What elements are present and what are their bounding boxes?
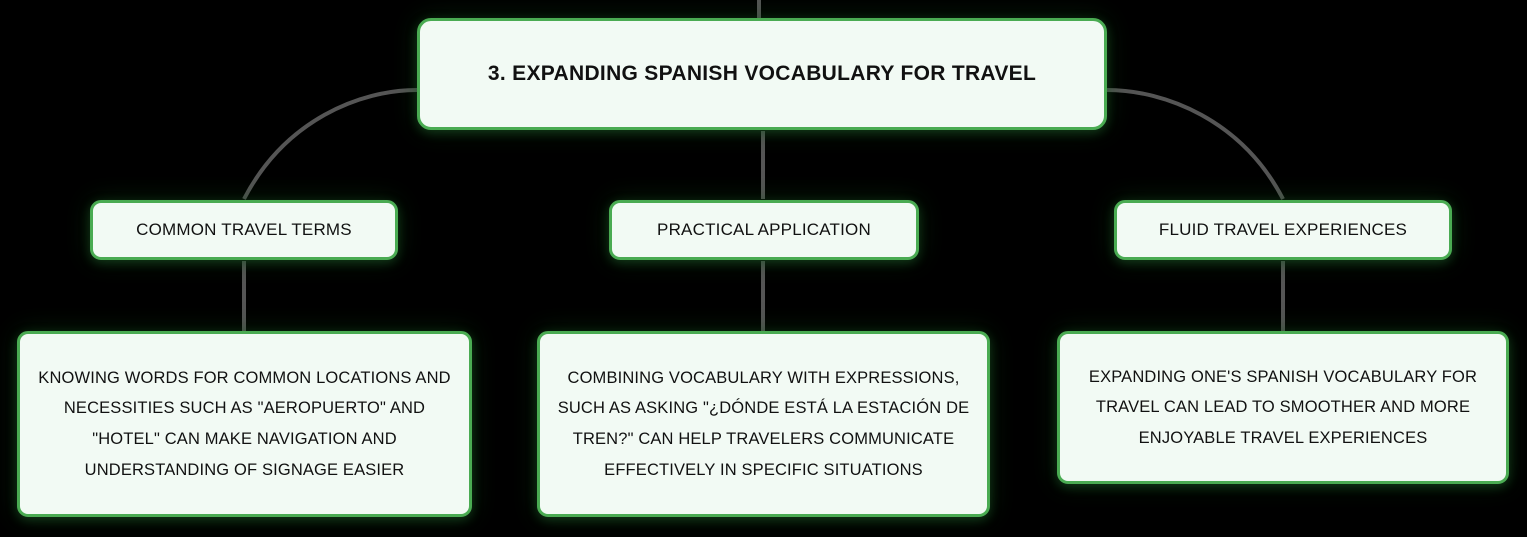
branch-node-common-travel-terms[interactable]: COMMON TRAVEL TERMS [90,200,398,260]
mindmap-canvas: 3. EXPANDING SPANISH VOCABULARY FOR TRAV… [0,0,1527,537]
branch-node-label: COMMON TRAVEL TERMS [93,220,395,240]
root-node-label: 3. EXPANDING SPANISH VOCABULARY FOR TRAV… [420,61,1104,87]
detail-node-practical-application[interactable]: COMBINING VOCABULARY WITH EXPRESSIONS, S… [537,331,990,517]
connector-root-to-branch-0 [244,90,417,199]
branch-node-label: FLUID TRAVEL EXPERIENCES [1117,220,1449,240]
branch-node-practical-application[interactable]: PRACTICAL APPLICATION [609,200,919,260]
detail-node-label: COMBINING VOCABULARY WITH EXPRESSIONS, S… [554,363,973,485]
detail-node-common-travel-terms[interactable]: KNOWING WORDS FOR COMMON LOCATIONS AND N… [17,331,472,517]
root-node[interactable]: 3. EXPANDING SPANISH VOCABULARY FOR TRAV… [417,18,1107,130]
detail-node-label: EXPANDING ONE'S SPANISH VOCABULARY FOR T… [1074,362,1492,454]
detail-node-fluid-travel-experiences[interactable]: EXPANDING ONE'S SPANISH VOCABULARY FOR T… [1057,331,1509,484]
detail-node-label: KNOWING WORDS FOR COMMON LOCATIONS AND N… [34,363,455,485]
branch-node-label: PRACTICAL APPLICATION [612,220,916,240]
connector-root-to-branch-2 [1107,90,1283,199]
branch-node-fluid-travel-experiences[interactable]: FLUID TRAVEL EXPERIENCES [1114,200,1452,260]
